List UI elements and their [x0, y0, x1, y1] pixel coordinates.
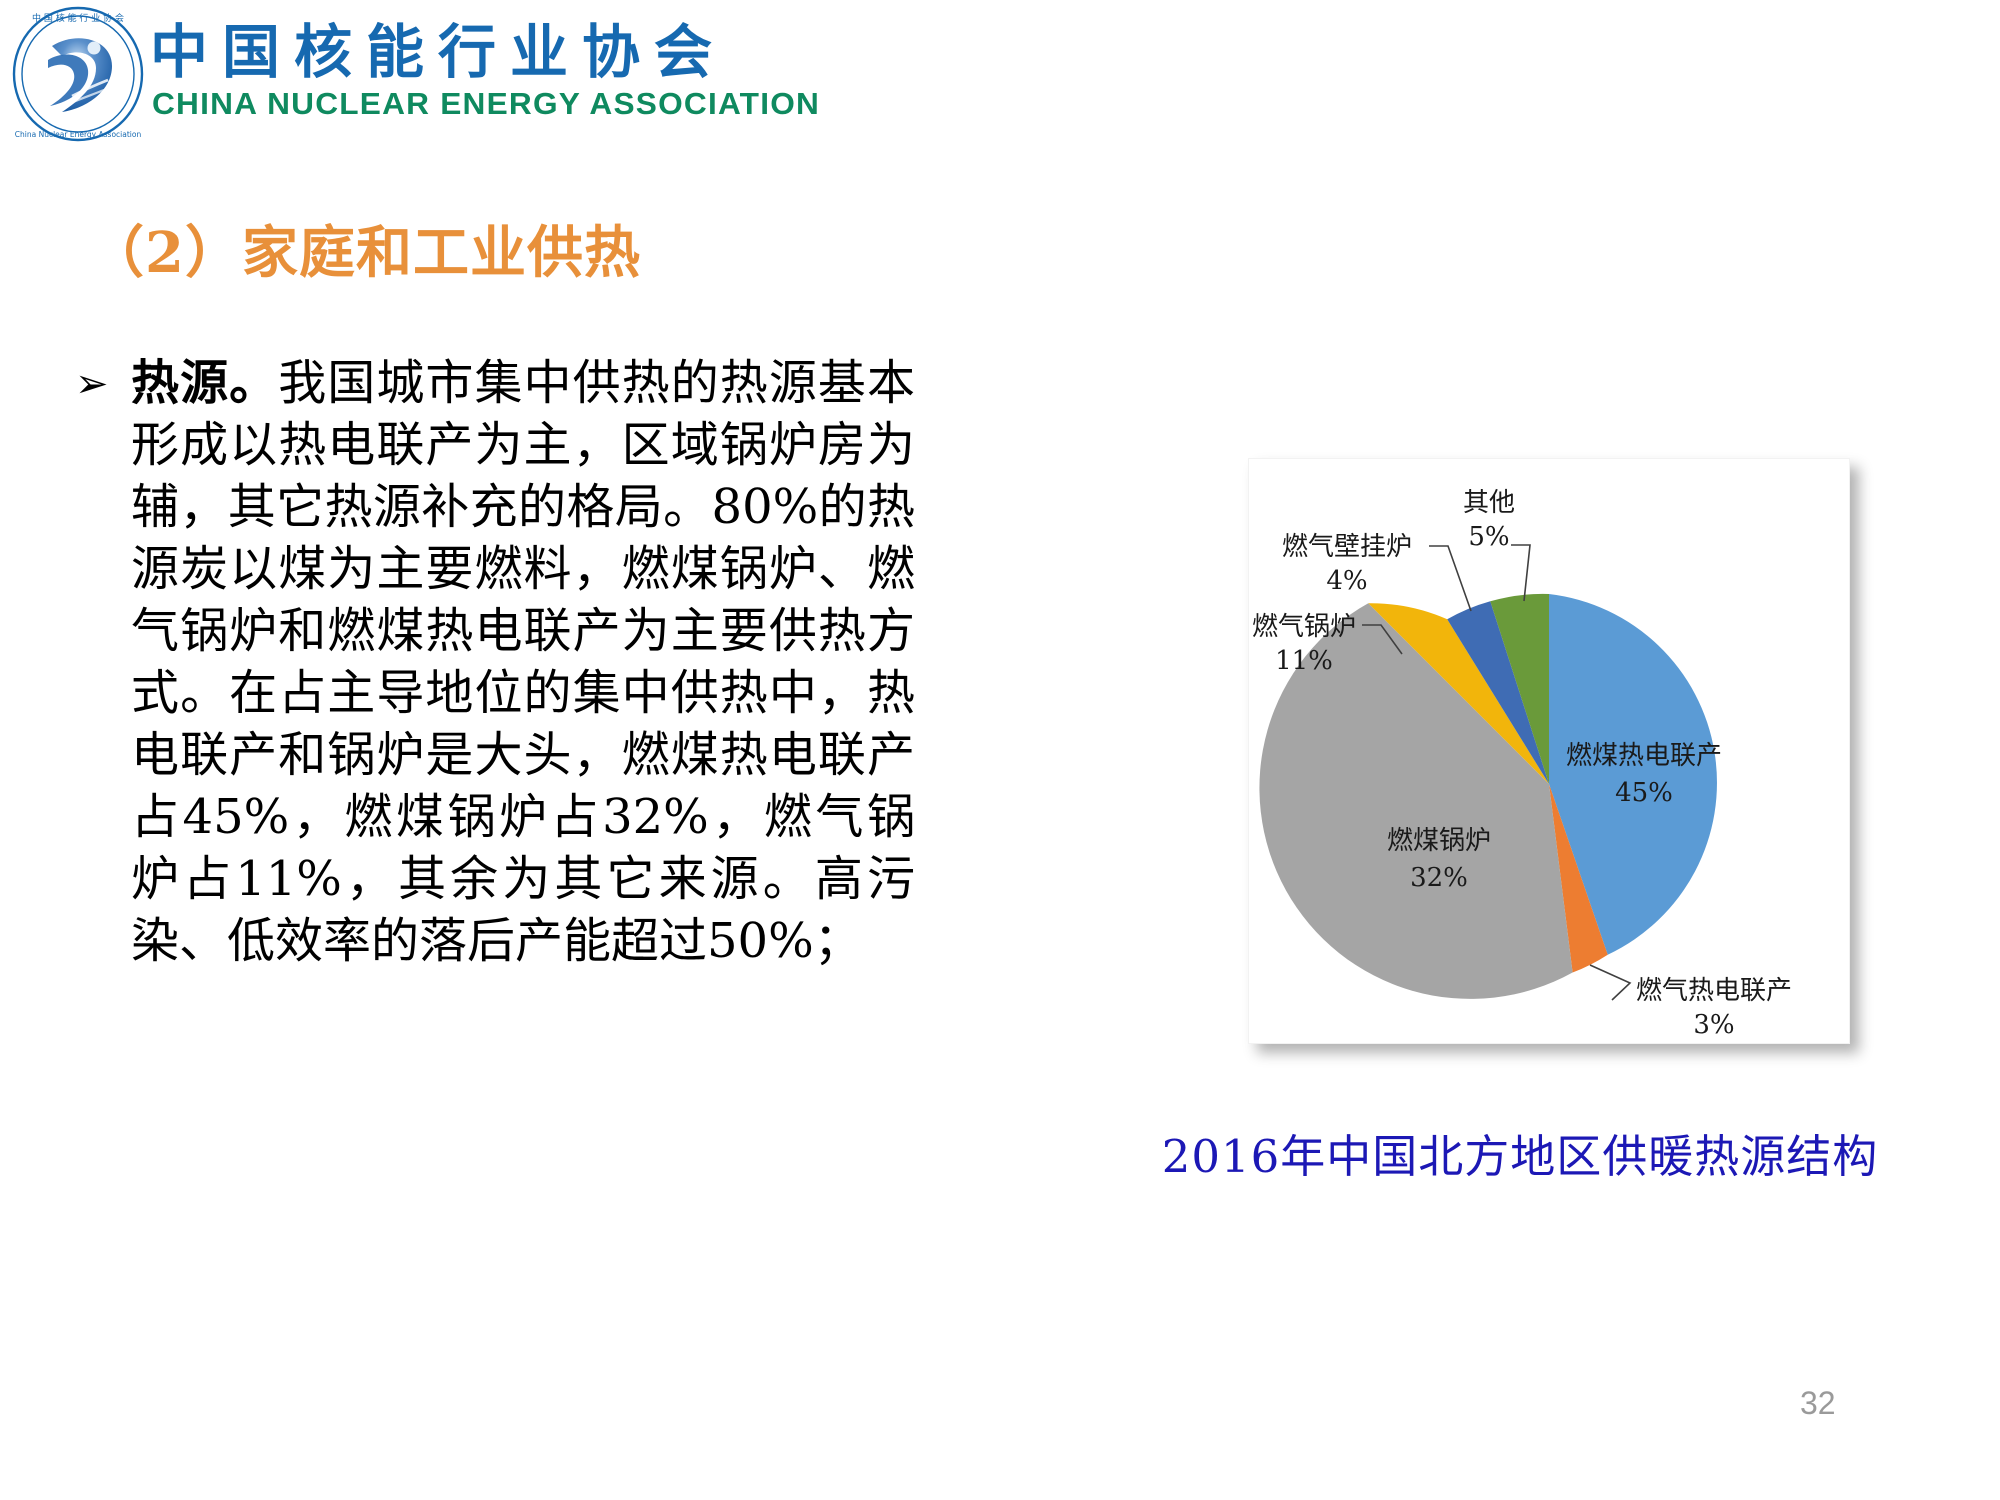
- org-name-chinese: 中国核能行业协会: [150, 20, 726, 84]
- org-name-english: CHINA NUCLEAR ENERGY ASSOCIATION: [152, 86, 820, 122]
- svg-text:China Nuclear Energy Associati: China Nuclear Energy Association: [15, 130, 142, 139]
- pie-label-other-name: 其他: [1463, 488, 1515, 518]
- cnea-emblem-icon: 中 国 核 能 行 业 协 会 China Nuclear Energy Ass…: [8, 4, 148, 144]
- body-paragraph: 热源。我国城市集中供热的热源基本形成以热电联产为主，区域锅炉房为辅，其它热源补充…: [131, 352, 915, 972]
- pie-label-coal-chp-value: 45%: [1615, 778, 1673, 808]
- pie-chart: 其他 5% 燃气壁挂炉 4% 燃气锅炉 11% 燃气热电联产 3% 燃煤热电联产…: [1249, 459, 1849, 1043]
- pie-label-wall-hung-value: 4%: [1326, 566, 1367, 596]
- pie-label-gas-chp-name: 燃气热电联产: [1636, 976, 1792, 1006]
- pie-label-gas-chp-value: 3%: [1693, 1010, 1734, 1040]
- pie-label-other-value: 5%: [1468, 522, 1509, 552]
- slide-header: 中 国 核 能 行 业 协 会 China Nuclear Energy Ass…: [0, 0, 2000, 150]
- pie-label-gas-boiler-name: 燃气锅炉: [1252, 612, 1356, 642]
- body-text: 我国城市集中供热的热源基本形成以热电联产为主，区域锅炉房为辅，其它热源补充的格局…: [131, 355, 915, 969]
- pie-label-coal-boiler-value: 32%: [1410, 863, 1468, 893]
- pie-label-gas-boiler-value: 11%: [1275, 646, 1333, 676]
- bullet-arrow-icon: ➢: [75, 364, 127, 404]
- pie-chart-panel: 其他 5% 燃气壁挂炉 4% 燃气锅炉 11% 燃气热电联产 3% 燃煤热电联产…: [1248, 458, 1850, 1044]
- svg-text:中 国 核 能 行 业 协 会: 中 国 核 能 行 业 协 会: [32, 12, 124, 24]
- pie-label-coal-boiler-name: 燃煤锅炉: [1387, 826, 1491, 856]
- pie-label-wall-hung-name: 燃气壁挂炉: [1282, 532, 1412, 562]
- body-lead: 热源。: [131, 355, 278, 411]
- page-number: 32: [1800, 1385, 1836, 1422]
- body-block: ➢ 热源。我国城市集中供热的热源基本形成以热电联产为主，区域锅炉房为辅，其它热源…: [75, 352, 915, 972]
- chart-caption: 2016年中国北方地区供暖热源结构: [1140, 1120, 1900, 1185]
- page-title: （2）家庭和工业供热: [88, 208, 641, 289]
- pie-label-coal-chp-name: 燃煤热电联产: [1566, 741, 1722, 771]
